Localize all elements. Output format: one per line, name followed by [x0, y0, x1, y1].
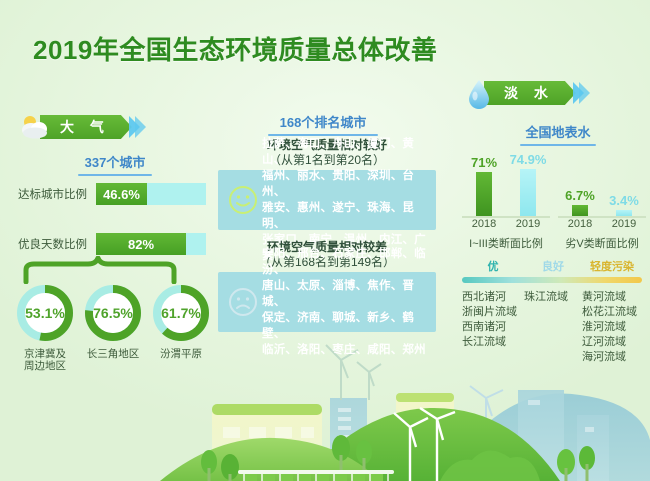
air-bar-track: 82% — [96, 233, 206, 255]
water-chart-1-bar-2018 — [476, 172, 492, 216]
water-chart-1-tick: 2019 — [506, 218, 550, 230]
air-bar-label: 优良天数比例 — [18, 236, 96, 252]
brace-connector — [20, 256, 180, 284]
bad-city-line: 安阳、邢台、石家庄、邯郸、临汾、 — [262, 246, 428, 278]
water-chart-2-ticks: 2018 2019 — [558, 218, 646, 230]
basin-item: 辽河流域 — [582, 335, 642, 350]
water-subhead: 全国地表水 — [520, 122, 596, 146]
water-chart-1-col-2018: 71% — [462, 155, 506, 216]
water-chart-1-value-2018: 71% — [471, 155, 497, 170]
gauge-caption: 汾渭平原 — [150, 348, 212, 360]
good-city-line: 福州、丽水、贵阳、深圳、台州、 — [262, 168, 428, 200]
air-bar-track: 46.6% — [96, 183, 206, 205]
gauge-fenwei-plain: 61.7% 汾渭平原 — [150, 282, 212, 360]
basin-item: 浙闽片流域 — [462, 305, 524, 320]
basin-item: 长江流域 — [462, 335, 524, 350]
water-banner-label: 淡 水 — [484, 81, 576, 105]
water-chart-1-bar-2019 — [520, 169, 536, 216]
air-bar-value: 82% — [128, 237, 154, 252]
basin-item: 海河流域 — [582, 350, 642, 365]
basin-item: 西北诸河 — [462, 290, 524, 305]
water-chart-2-value-2018: 6.7% — [565, 188, 595, 203]
good-city-line: 拉萨、海口、舟山、厦门、黄山、 — [262, 136, 428, 168]
water-chart-2-tick: 2019 — [602, 218, 646, 230]
air-banner-label: 大 气 — [40, 115, 132, 139]
basin-table: 优 良好 轻度污染 西北诸河 浙闽片流域 西南诸河 长江流域 珠江流域 黄河流域… — [462, 258, 642, 365]
basin-item: 西南诸河 — [462, 320, 524, 335]
water-chart-2-caption: 劣V类断面比例 — [558, 235, 646, 251]
basin-header-good: 良好 — [524, 258, 582, 274]
bad-city-box: 安阳、邢台、石家庄、邯郸、临汾、 唐山、太原、淄博、焦作、晋城、 保定、济南、聊… — [218, 272, 436, 332]
water-chart-1-value-2019: 74.9% — [510, 152, 547, 167]
water-chart-1: 71% 74.9% 2018 2019 I~III类断面比例 — [462, 148, 550, 251]
gauge-jingjinji: 53.1% 京津冀及 周边地区 — [14, 282, 76, 372]
water-chart-1-ticks: 2018 2019 — [462, 218, 550, 230]
page-title: 2019年全国生态环境质量总体改善 — [33, 30, 437, 67]
air-subhead: 337个城市 — [78, 152, 152, 176]
bad-city-line: 临沂、洛阳、枣庄、咸阳、郑州 — [262, 342, 428, 358]
water-banner: 淡 水 — [462, 78, 590, 108]
air-bar-value: 46.6% — [103, 187, 140, 202]
basin-item: 淮河流域 — [582, 320, 642, 335]
chevron-right-icon — [578, 82, 590, 104]
water-chart-2-value-2019: 3.4% — [609, 193, 639, 208]
water-chart-2-bar-2019 — [616, 210, 632, 216]
basin-gradient-bar — [462, 277, 642, 283]
water-chart-2-col-2018: 6.7% — [558, 188, 602, 216]
air-bar-fill: 46.6% — [96, 183, 147, 205]
gauge-value: 53.1% — [14, 282, 76, 344]
good-city-box: 拉萨、海口、舟山、厦门、黄山、 福州、丽水、贵阳、深圳、台州、 雅安、惠州、遂宁… — [218, 170, 436, 230]
basin-table-headers: 优 良好 轻度污染 — [462, 258, 642, 274]
air-bar-fill: 82% — [96, 233, 186, 255]
gauge-caption: 京津冀及 周边地区 — [14, 348, 76, 372]
gauge-value: 76.5% — [82, 282, 144, 344]
smiley-face-icon — [224, 185, 262, 215]
basin-column-good: 珠江流域 — [524, 290, 582, 365]
air-banner: 大 气 — [18, 112, 146, 142]
bad-city-line: 唐山、太原、淄博、焦作、晋城、 — [262, 278, 428, 310]
gauge-value: 61.7% — [150, 282, 212, 344]
basin-header-light-pollution: 轻度污染 — [582, 258, 642, 274]
good-city-line: 雅安、惠州、遂宁、珠海、昆明、 — [262, 200, 428, 232]
basin-table-columns: 西北诸河 浙闽片流域 西南诸河 长江流域 珠江流域 黄河流域 松花江流域 淮河流… — [462, 290, 642, 365]
ranking-subhead: 168个排名城市 — [268, 112, 378, 136]
basin-column-light-pollution: 黄河流域 松花江流域 淮河流域 辽河流域 海河流域 — [582, 290, 642, 365]
basin-item: 珠江流域 — [524, 290, 582, 305]
water-chart-2: 6.7% 3.4% 2018 2019 劣V类断面比例 — [558, 148, 646, 251]
basin-column-excellent: 西北诸河 浙闽片流域 西南诸河 长江流域 — [462, 290, 524, 365]
sad-face-icon — [224, 287, 262, 317]
air-bar-row-1: 优良天数比例 82% — [18, 233, 206, 255]
bad-city-line: 保定、济南、聊城、新乡、鹤壁、 — [262, 310, 428, 342]
gauge-caption: 长三角地区 — [82, 348, 144, 360]
air-bar-row-0: 达标城市比例 46.6% — [18, 183, 206, 205]
water-chart-2-tick: 2018 — [558, 218, 602, 230]
air-bar-label: 达标城市比例 — [18, 186, 96, 202]
water-chart-1-col-2019: 74.9% — [506, 152, 550, 216]
gauge-yangtze-delta: 76.5% 长三角地区 — [82, 282, 144, 360]
water-chart-2-bar-2018 — [572, 205, 588, 216]
water-chart-2-col-2019: 3.4% — [602, 193, 646, 216]
water-chart-2-bars: 6.7% 3.4% — [558, 148, 646, 216]
water-chart-1-bars: 71% 74.9% — [462, 148, 550, 216]
water-drop-icon — [462, 78, 496, 108]
basin-item: 松花江流域 — [582, 305, 642, 320]
sun-cloud-icon — [18, 112, 52, 142]
bad-city-list: 安阳、邢台、石家庄、邯郸、临汾、 唐山、太原、淄博、焦作、晋城、 保定、济南、聊… — [262, 246, 428, 358]
water-chart-1-caption: I~III类断面比例 — [462, 235, 550, 251]
basin-item: 黄河流域 — [582, 290, 642, 305]
water-chart-1-tick: 2018 — [462, 218, 506, 230]
chevron-right-icon — [134, 116, 146, 138]
basin-header-excellent: 优 — [462, 258, 524, 274]
